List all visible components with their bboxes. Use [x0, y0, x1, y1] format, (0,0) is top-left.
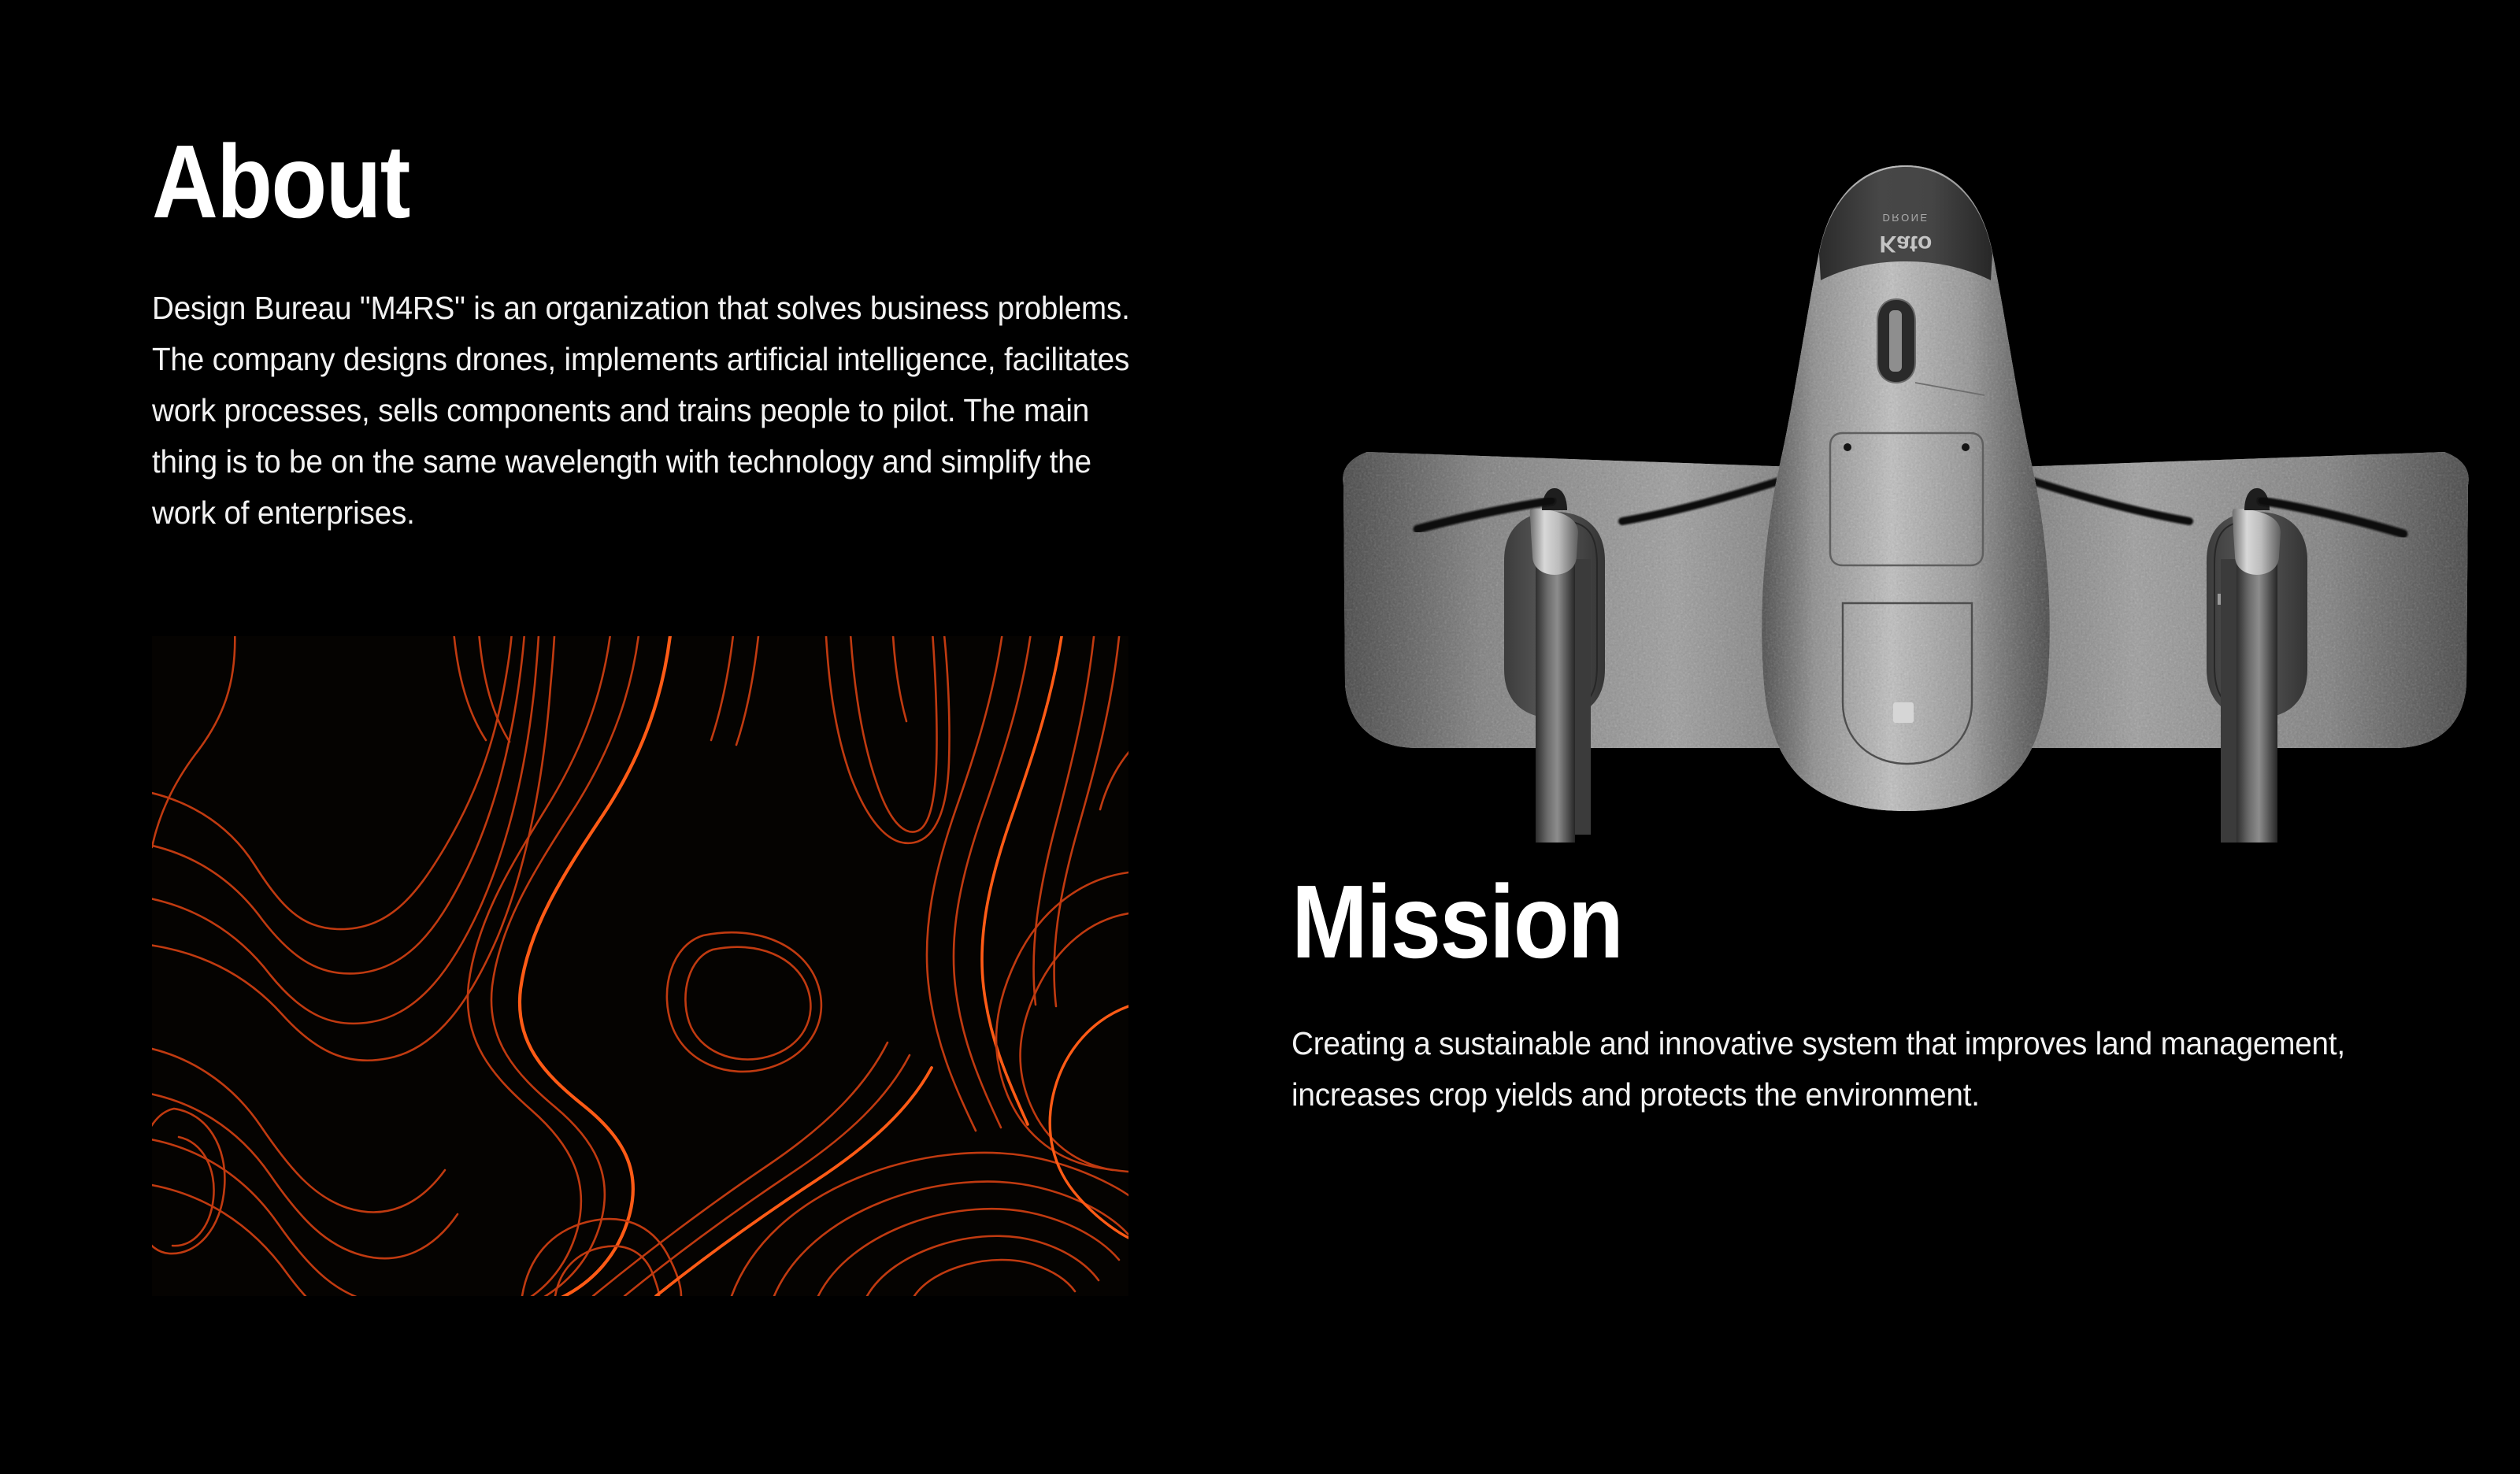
- hatch-screw-left: [1844, 443, 1851, 451]
- drone-product-image: DRONE Kato: [1291, 118, 2520, 843]
- about-heading: About: [152, 130, 1032, 234]
- status-indicator: [1893, 702, 1914, 723]
- nose-brand-subtext: DRONE: [1883, 212, 1929, 224]
- mission-heading: Mission: [1291, 870, 2276, 974]
- topo-contour-svg: [152, 636, 1128, 1296]
- topographic-map-image: [152, 636, 1128, 1296]
- mission-paragraph: Creating a sustainable and innovative sy…: [1291, 1018, 2359, 1120]
- about-section: About Design Bureau "M4RS" is an organiz…: [152, 130, 1152, 539]
- left-motor-hub: [1530, 509, 1578, 575]
- drone-svg: DRONE Kato: [1291, 118, 2520, 843]
- about-paragraph: Design Bureau "M4RS" is an organization …: [152, 283, 1152, 539]
- nose-brand-text: Kato: [1880, 231, 1933, 257]
- hatch-screw-right: [1962, 443, 1970, 451]
- about-mission-slide: About Design Bureau "M4RS" is an organiz…: [0, 0, 2520, 1474]
- mission-section: Mission Creating a sustainable and innov…: [1291, 870, 2410, 1120]
- right-motor-hub: [2233, 509, 2281, 575]
- sensor-lens: [1889, 310, 1902, 372]
